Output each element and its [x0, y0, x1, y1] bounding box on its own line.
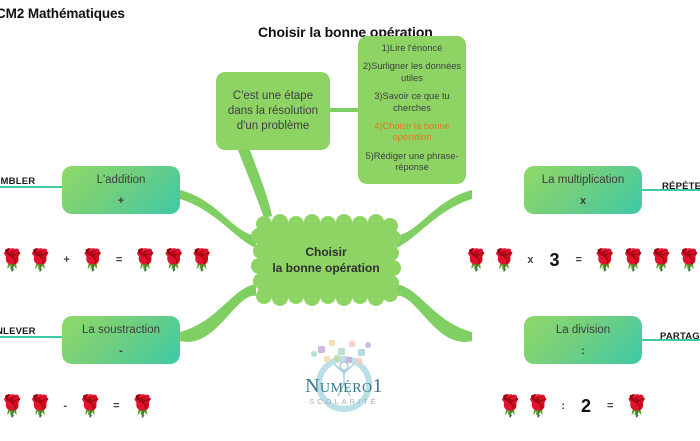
roses-result: 🌹🌹🌹🌹: [591, 250, 700, 271]
step-item-2: 2)Surligner les données utiles: [361, 61, 463, 84]
node-addition-name: L'addition: [97, 174, 146, 187]
node-soustraction-sign: -: [119, 346, 123, 356]
example-multiplier: 3: [549, 250, 559, 271]
rose-icon: 🌹: [77, 396, 103, 417]
rose-icon: 🌹: [592, 250, 618, 271]
node-multiplication-sign: x: [580, 196, 586, 206]
example-operator: -: [63, 400, 67, 412]
node-soustraction-name: La soustraction: [82, 324, 160, 337]
node-addition[interactable]: L'addition +: [62, 166, 180, 214]
example-soustraction: 🌹🌹 - 🌹 = 🌹: [0, 384, 157, 428]
roses-left: 🌹🌹: [496, 396, 552, 417]
node-division[interactable]: La division :: [524, 316, 642, 364]
keyword-repeter: RÉPÉTE: [662, 181, 700, 192]
example-addition: 🌹🌹 + 🌹 = 🌹🌹🌹: [0, 238, 216, 282]
rose-icon: 🌹: [132, 250, 158, 271]
step-item-1: 1)Lire l'énoncé: [361, 43, 463, 54]
keyword-enlever: NLEVER: [0, 326, 36, 337]
node-multiplication-name: La multiplication: [542, 174, 624, 187]
keyword-rassembler: EMBLER: [0, 176, 35, 187]
wire-center-division: [396, 284, 472, 342]
example-operator: :: [561, 400, 565, 412]
node-etape-label: C'est une étape dans la résolution d'un …: [221, 89, 325, 134]
wire-center-etape: [238, 150, 272, 218]
rose-icon: 🌹: [130, 396, 156, 417]
rose-icon: 🌹: [525, 396, 551, 417]
example-equals: =: [575, 254, 581, 266]
rose-icon: 🌹: [189, 250, 215, 271]
rose-icon: 🌹: [80, 250, 106, 271]
node-steps-list[interactable]: 1)Lire l'énoncé 2)Surligner les données …: [358, 36, 466, 184]
step-item-3: 3)Savoir ce que tu cherches: [361, 91, 463, 114]
node-center-text: Choisir la bonne opération: [250, 214, 402, 306]
example-operator: x: [527, 254, 533, 266]
rose-icon: 🌹: [0, 250, 25, 271]
example-division: 🌹🌹 : 2 = 🌹: [496, 384, 651, 428]
step-item-5: 5)Rédiger une phrase-réponse: [361, 151, 463, 174]
node-etape[interactable]: C'est une étape dans la résolution d'un …: [216, 72, 330, 150]
rose-icon: 🌹: [463, 250, 489, 271]
rose-icon: 🌹: [27, 396, 53, 417]
step-item-4: 4)Choisir la bonne opération: [361, 121, 463, 144]
roses-left: 🌹🌹: [462, 250, 518, 271]
node-addition-sign: +: [118, 196, 124, 206]
rose-icon: 🌹: [161, 250, 187, 271]
rose-icon: 🌹: [620, 250, 646, 271]
roses-result: 🌹: [622, 396, 650, 417]
roses-right: 🌹: [76, 396, 104, 417]
rose-icon: 🌹: [27, 250, 53, 271]
watermark-text: Numéro1 SCOLARITÉ: [276, 376, 412, 407]
node-soustraction[interactable]: La soustraction -: [62, 316, 180, 364]
example-operator: +: [63, 254, 69, 266]
page-title: CM2 Mathématiques: [0, 6, 125, 21]
rose-icon: 🌹: [623, 396, 649, 417]
watermark-logo: Numéro1 SCOLARITÉ: [276, 336, 412, 414]
rose-icon: 🌹: [497, 396, 523, 417]
wire-etape-steps: [330, 108, 358, 112]
node-division-sign: :: [581, 346, 585, 356]
example-equals: =: [607, 400, 613, 412]
node-multiplication[interactable]: La multiplication x: [524, 166, 642, 214]
mindmap-canvas: CM2 Mathématiques Choisir la bonne opéra…: [0, 0, 700, 441]
rose-icon: 🌹: [0, 396, 25, 417]
example-equals: =: [116, 254, 122, 266]
roses-left: 🌹🌹: [0, 396, 54, 417]
rose-icon: 🌹: [491, 250, 517, 271]
example-divisor: 2: [581, 396, 591, 417]
roses-result: 🌹: [129, 396, 157, 417]
watermark-sub: SCOLARITÉ: [276, 396, 412, 407]
example-multiplication: 🌹🌹 x 3 = 🌹🌹🌹🌹: [462, 238, 700, 282]
keyword-partager: PARTAG: [660, 331, 700, 342]
node-center[interactable]: Choisir la bonne opération: [250, 214, 402, 306]
rose-icon: 🌹: [648, 250, 674, 271]
wire-center-multiplication: [396, 190, 472, 248]
roses-right: 🌹: [79, 250, 107, 271]
roses-result: 🌹🌹🌹: [131, 250, 215, 271]
wire-center-soustraction: [180, 284, 256, 342]
example-equals: =: [113, 400, 119, 412]
node-division-name: La division: [556, 324, 610, 337]
rose-icon: 🌹: [676, 250, 700, 271]
node-center-line2: la bonne opération: [272, 260, 379, 276]
roses-left: 🌹🌹: [0, 250, 54, 271]
node-center-line1: Choisir: [305, 244, 346, 260]
watermark-main: Numéro1: [276, 376, 412, 396]
